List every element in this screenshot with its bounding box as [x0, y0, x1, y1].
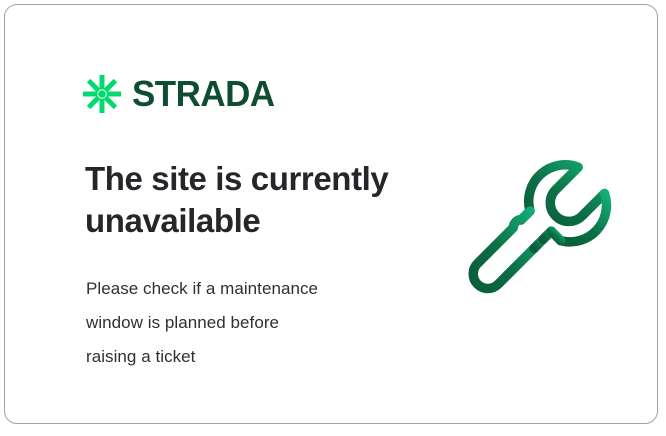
- error-page: STRADA The site is currently unavailable…: [0, 0, 666, 436]
- page-description: Please check if a maintenance window is …: [86, 272, 406, 374]
- description-line: raising a ticket: [86, 340, 406, 374]
- status-card: STRADA The site is currently unavailable…: [4, 4, 658, 424]
- brand-wordmark: STRADA: [132, 76, 275, 112]
- description-line: Please check if a maintenance: [86, 272, 406, 306]
- page-title: The site is currently unavailable: [85, 158, 415, 241]
- wrench-icon: [457, 153, 619, 318]
- description-line: window is planned before: [86, 306, 406, 340]
- brand-logo: STRADA: [83, 75, 279, 113]
- asterisk-star-icon: [83, 75, 121, 113]
